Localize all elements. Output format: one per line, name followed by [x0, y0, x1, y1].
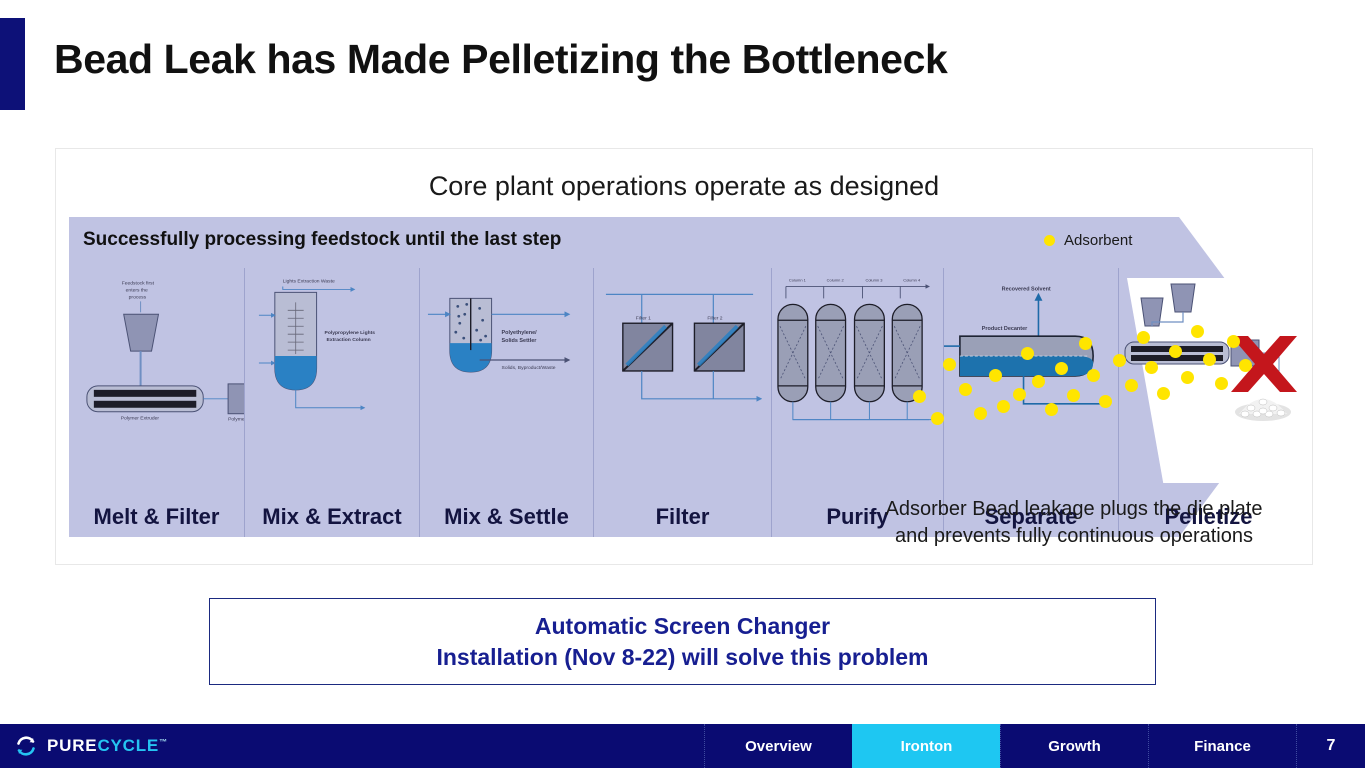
process-step-melt-filter[interactable]: Feedstock first enters the process Polym… [69, 268, 245, 537]
separate-diagram: Recovered Solvent Product Decanter [944, 268, 1118, 463]
step-label: Melt & Filter [69, 503, 244, 531]
svg-text:Column 4: Column 4 [903, 277, 921, 282]
nav-tab-ironton[interactable]: Ironton [852, 724, 1000, 768]
svg-text:Recovered Solvent: Recovered Solvent [1002, 286, 1051, 292]
svg-text:Lights Extraction Waste: Lights Extraction Waste [283, 278, 335, 284]
brand-wordmark: PURECYCLE™ [47, 736, 168, 756]
svg-text:Polypropylene Lights: Polypropylene Lights [325, 330, 376, 336]
card-heading: Core plant operations operate as designe… [56, 171, 1312, 202]
page-title: Bead Leak has Made Pelletizing the Bottl… [54, 36, 947, 83]
legend-label: Adsorbent [1064, 232, 1132, 249]
svg-text:Solids, Byproduct/Waste: Solids, Byproduct/Waste [502, 365, 556, 371]
mix-extract-diagram: Lights Extraction Waste Polypropylene Li… [245, 268, 419, 463]
process-step-mix-settle[interactable]: Polyethylene/ Solids Settler Solids, Byp… [420, 268, 594, 537]
svg-text:Polymer Filter: Polymer Filter [228, 417, 244, 423]
page-number: 7 [1296, 724, 1365, 768]
step-label: Mix & Extract [245, 503, 419, 531]
step-label: Mix & Settle [420, 503, 593, 531]
brand-cycle-text: CYCLE [97, 736, 159, 755]
process-step-filter[interactable]: Filter 1 Filter 2 Filter [594, 268, 772, 537]
svg-text:Solids Settler: Solids Settler [502, 338, 538, 344]
svg-text:enters the: enters the [126, 287, 148, 293]
svg-text:process: process [129, 294, 147, 300]
svg-text:Feedstock first: Feedstock first [122, 280, 155, 286]
callout-line-2: Installation (Nov 8-22) will solve this … [436, 642, 928, 673]
process-band: Successfully processing feedstock until … [69, 217, 1298, 537]
yellow-dot-icon [1044, 235, 1055, 246]
title-accent-bar [0, 18, 25, 110]
melt-filter-diagram: Feedstock first enters the process Polym… [69, 268, 244, 463]
svg-text:Product Decanter: Product Decanter [982, 326, 1028, 332]
caption-line-2: and prevents fully continuous operations [854, 523, 1294, 550]
svg-text:Column 3: Column 3 [865, 277, 883, 282]
nav-tab-overview[interactable]: Overview [704, 724, 852, 768]
navbar-spacer [314, 724, 704, 768]
svg-text:Polyethylene/: Polyethylene/ [502, 330, 538, 336]
process-step-mix-extract[interactable]: Lights Extraction Waste Polypropylene Li… [245, 268, 420, 537]
callout-line-1: Automatic Screen Changer [535, 611, 830, 642]
solution-callout-box: Automatic Screen Changer Installation (N… [209, 598, 1156, 685]
pelletize-diagram [1119, 268, 1298, 483]
filter-diagram: Filter 1 Filter 2 [594, 268, 771, 463]
caption-line-1: Adsorber Bead leakage plugs the die plat… [854, 496, 1294, 523]
svg-text:Column 1: Column 1 [789, 277, 807, 282]
svg-text:Extraction Column: Extraction Column [327, 337, 371, 343]
svg-text:Column 2: Column 2 [827, 277, 844, 282]
brand-logo[interactable]: PURECYCLE™ [0, 724, 314, 768]
legend-adsorbent: Adsorbent [1044, 232, 1132, 249]
svg-text:Filter 1: Filter 1 [636, 315, 651, 321]
svg-text:Filter 2: Filter 2 [707, 315, 722, 321]
bead-leak-caption: Adsorber Bead leakage plugs the die plat… [854, 496, 1294, 550]
mix-settle-diagram: Polyethylene/ Solids Settler Solids, Byp… [420, 268, 593, 463]
step-label: Filter [594, 503, 771, 531]
svg-text:Polymer Extruder: Polymer Extruder [121, 416, 160, 422]
recycle-arrow-icon [14, 734, 38, 758]
purify-diagram: Column 1 Column 2 Column 3 Column 4 [772, 268, 943, 463]
brand-pure-text: PURE [47, 736, 97, 755]
band-header: Successfully processing feedstock until … [83, 229, 561, 251]
bottom-navbar: PURECYCLE™ Overview Ironton Growth Finan… [0, 724, 1365, 768]
nav-tab-growth[interactable]: Growth [1000, 724, 1148, 768]
nav-tab-finance[interactable]: Finance [1148, 724, 1296, 768]
trademark-icon: ™ [159, 737, 168, 746]
process-overview-card: Core plant operations operate as designe… [55, 148, 1313, 565]
